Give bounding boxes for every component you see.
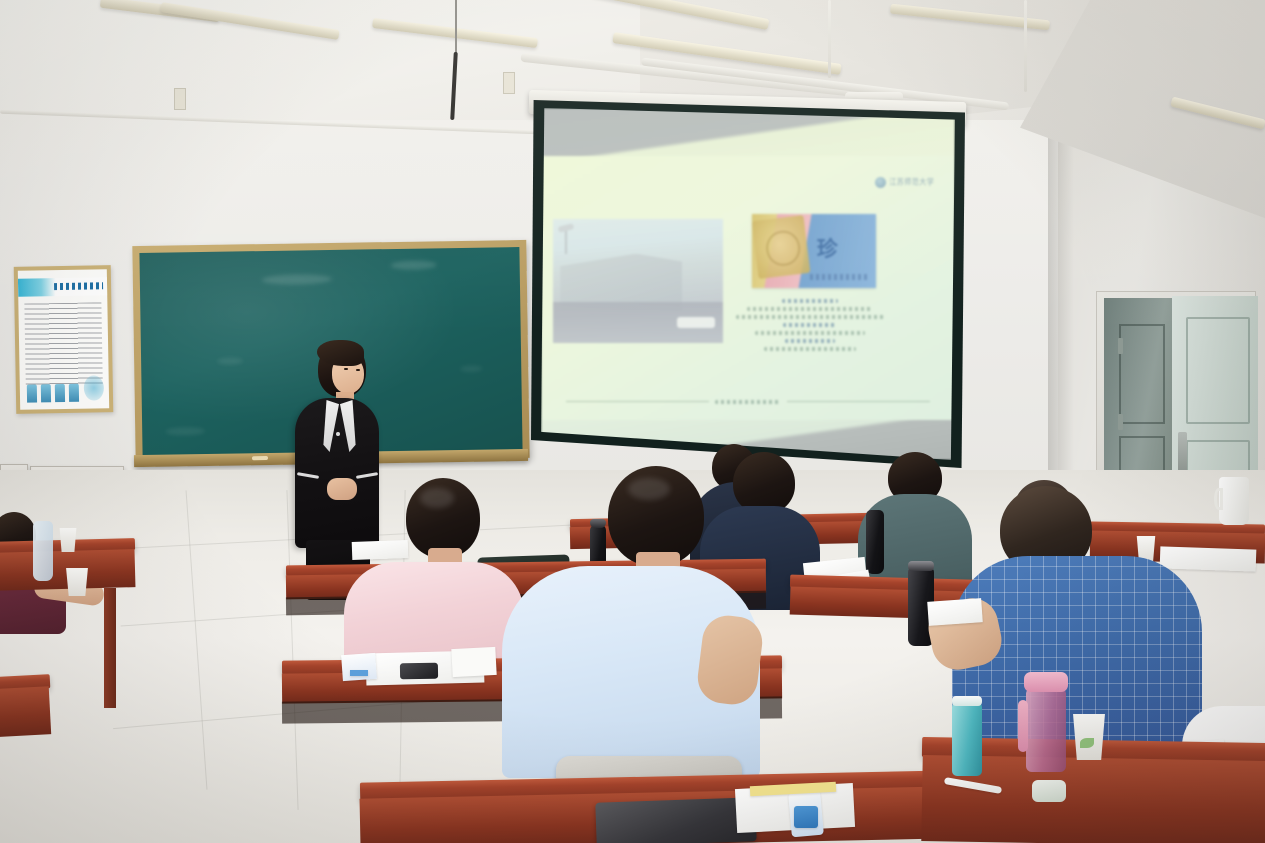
university-logo-mark (875, 177, 886, 188)
presenter-eye (356, 369, 360, 371)
poster-banner (18, 278, 107, 298)
presenter-button (336, 432, 340, 436)
classroom-photo-scene: 江苏师范大学 珍 (0, 0, 1265, 843)
ceiling-support-rod (1024, 0, 1027, 92)
slide-text-line (782, 299, 839, 303)
photo-caption-badge (677, 317, 714, 328)
thermos-cap (908, 561, 934, 571)
smartphone (400, 663, 438, 680)
slide-text-line (747, 307, 873, 311)
tissue-packet-label (794, 806, 818, 828)
floor-tile-seam (186, 490, 208, 789)
university-logo-text: 江苏师范大学 (889, 176, 934, 188)
desk-row-left-lower-front (0, 686, 51, 738)
notebook-page (451, 647, 496, 677)
footer-motto-text (715, 400, 781, 404)
presenter-eye (344, 368, 348, 370)
presenter-hands (327, 478, 357, 500)
hair-highlight (628, 478, 670, 500)
stacked-paper-documents (1160, 546, 1257, 571)
lecture-notes (352, 540, 409, 560)
hair-highlight (420, 488, 454, 508)
slide-text-line (736, 315, 884, 319)
chalk-piece (252, 456, 268, 460)
teal-water-bottle (952, 702, 982, 776)
dark-laptop[interactable] (595, 797, 756, 843)
attendee-head (733, 452, 795, 514)
book-seal-emblem (752, 215, 810, 279)
slide-text-line (755, 331, 865, 335)
slide-text-line (783, 323, 836, 327)
street-lamp (557, 224, 584, 254)
projection-screen-surface: 江苏师范大学 珍 (541, 108, 955, 460)
slide-campus-photo (553, 219, 723, 343)
hanging-power-cord (455, 0, 457, 58)
pink-water-bottle (1026, 688, 1066, 772)
slide-footer (566, 400, 930, 404)
white-thermos-pitcher (1219, 477, 1249, 525)
poster-icon (41, 384, 51, 402)
slide-text-block (731, 295, 888, 355)
ceiling-support-rod (828, 0, 831, 78)
poster-icon (27, 384, 37, 402)
cord-tag (174, 88, 186, 110)
poster-stamp (84, 375, 104, 400)
cup-leaf-print (1080, 738, 1094, 748)
pink-bottle-cap (1024, 672, 1068, 692)
door-hinge (1118, 414, 1123, 430)
bottle-cap (952, 696, 982, 706)
presenter-hair-fringe (317, 340, 364, 366)
tissue-packet-label (350, 670, 368, 676)
footer-rule-right (787, 401, 930, 402)
university-logo: 江苏师范大学 (875, 177, 934, 188)
stacked-paper-documents (927, 598, 983, 626)
footer-rule-left (566, 401, 709, 402)
slide-text-line (764, 347, 855, 351)
desk-leg (104, 588, 116, 708)
poster-icon (55, 384, 65, 402)
certificate-notice-poster (14, 265, 114, 414)
book-title-character: 珍 (817, 233, 838, 263)
bottle-strap (1018, 700, 1028, 752)
thermos-cap (590, 519, 606, 528)
slide-book-cover: 珍 (752, 214, 876, 288)
door-hinge (1118, 338, 1123, 354)
small-container (1032, 780, 1066, 802)
slide-text-line (785, 339, 835, 343)
pitcher-handle (1214, 488, 1223, 510)
poster-icon-row (27, 384, 79, 403)
black-thermos-bottle (866, 510, 884, 574)
presentation-slide: 江苏师范大学 珍 (541, 156, 955, 420)
clear-water-bottle (33, 521, 53, 581)
poster-icon (69, 384, 79, 402)
book-subtitle-line (810, 274, 870, 280)
cord-tag (503, 72, 515, 94)
tissue-packet (341, 653, 377, 681)
